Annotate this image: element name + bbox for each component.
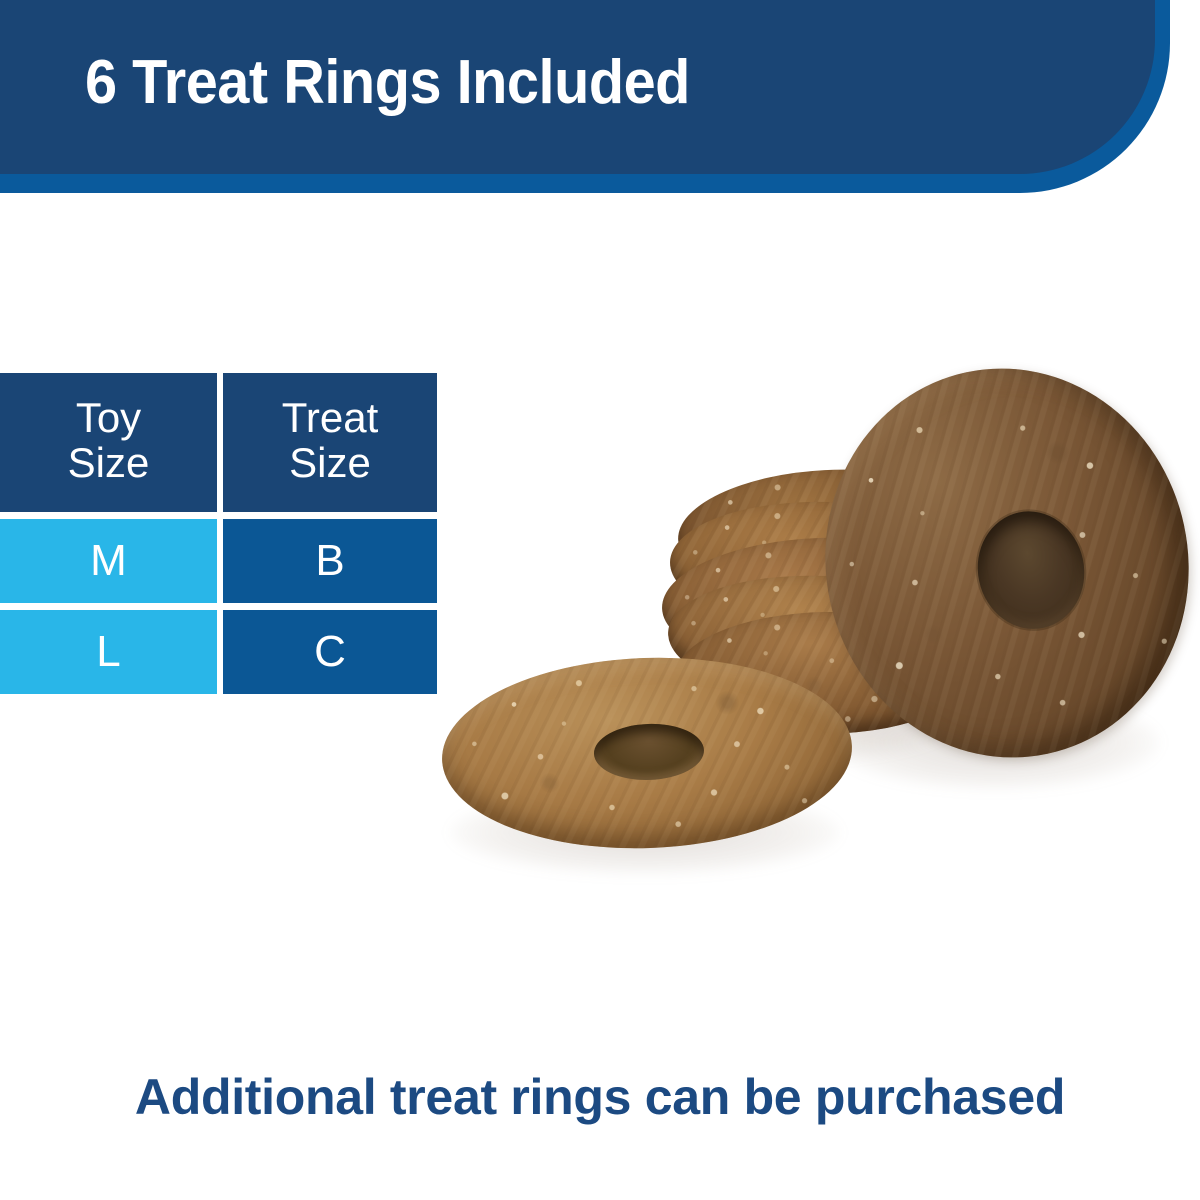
toy-size-line-2: Size: [68, 441, 150, 485]
table-cell-treat-size-2: C: [223, 610, 437, 694]
table-header-treat-size: Treat Size: [223, 373, 437, 512]
footer-caption: Additional treat rings can be purchased: [0, 1068, 1200, 1126]
size-table: Toy Size Treat Size M B L C: [0, 373, 437, 694]
table-header-row: Toy Size Treat Size: [0, 373, 437, 512]
table-cell-treat-size-1: B: [223, 519, 437, 603]
table-cell-toy-size-1: M: [0, 519, 217, 603]
product-feature-panel: 6 Treat Rings Included Toy Size Treat Si…: [0, 0, 1200, 1200]
table-row: L C: [0, 610, 437, 694]
banner-title: 6 Treat Rings Included: [85, 52, 690, 114]
treat-rings-photo: [430, 350, 1190, 890]
table-row: M B: [0, 519, 437, 603]
header-banner: 6 Treat Rings Included: [0, 0, 1200, 194]
toy-size-line-1: Toy: [68, 396, 150, 440]
treat-size-line-1: Treat: [282, 396, 378, 440]
table-cell-toy-size-2: L: [0, 610, 217, 694]
treat-size-line-2: Size: [282, 441, 378, 485]
table-header-toy-size: Toy Size: [0, 373, 217, 512]
treat-ring-front: [439, 651, 855, 855]
